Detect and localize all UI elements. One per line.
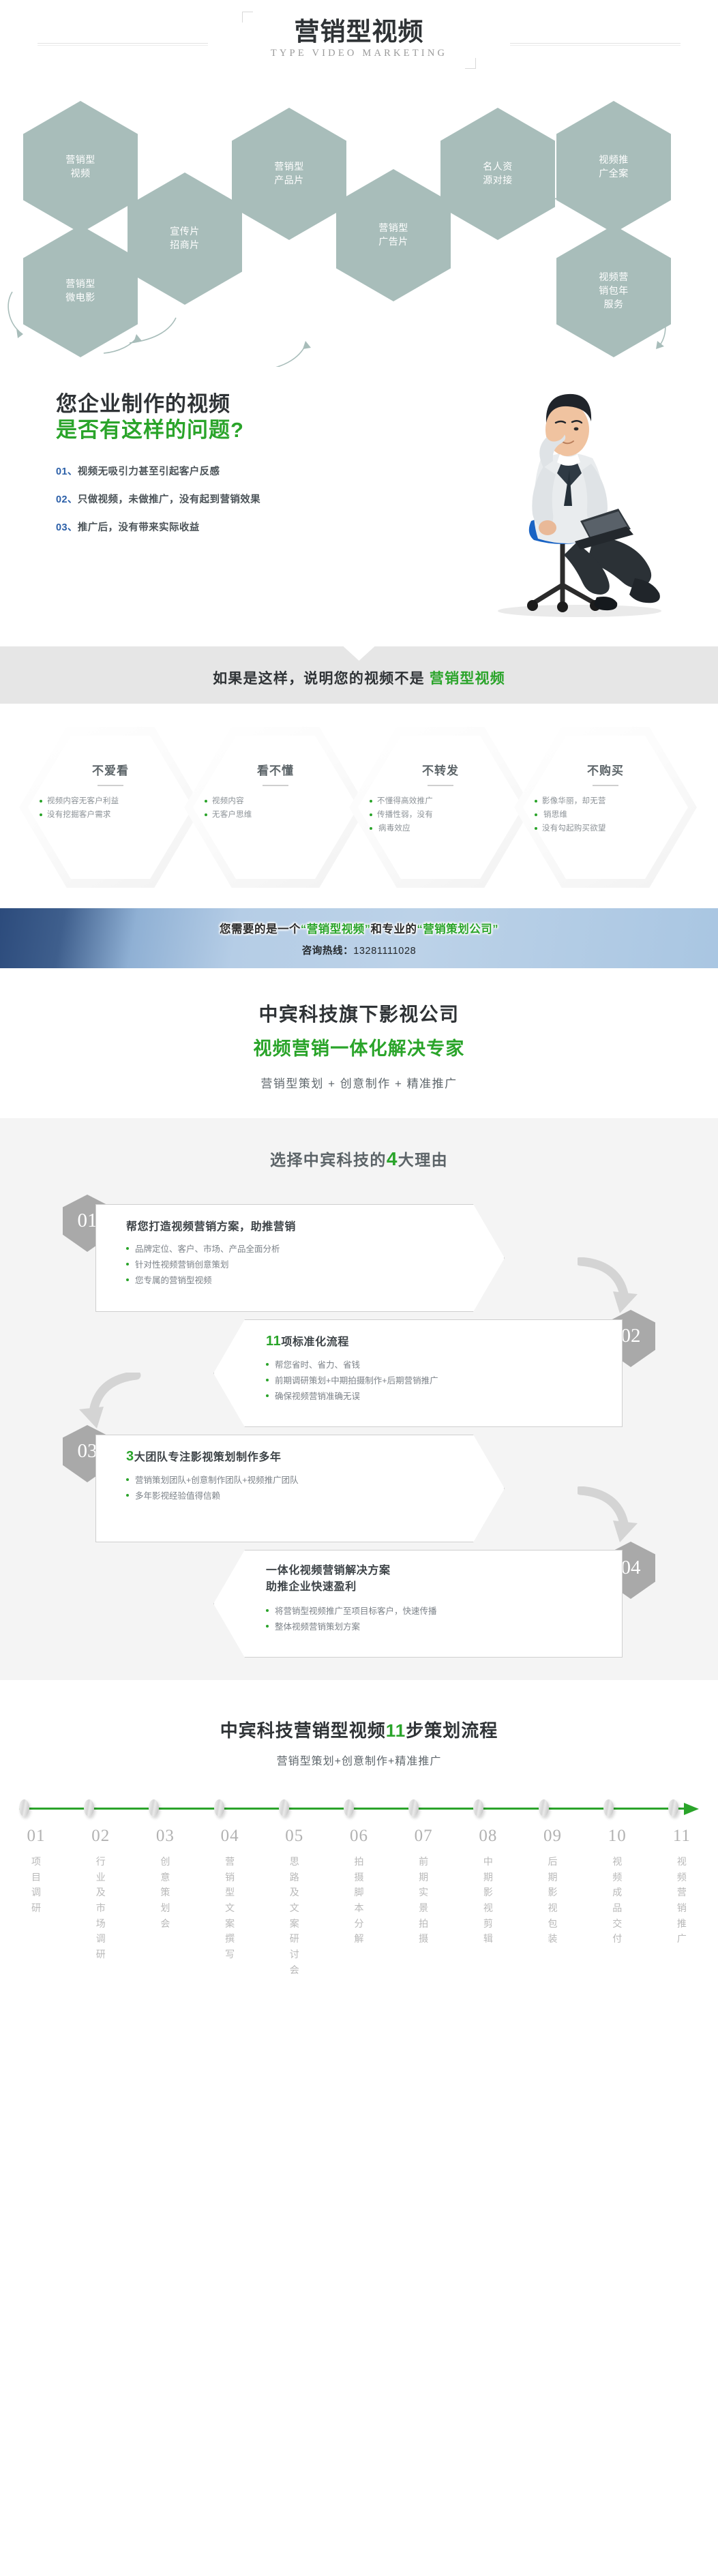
divider [263,785,288,786]
hex-card-bullet: 传播性弱，没有 [370,809,511,822]
hex-card-title: 看不懂 [205,761,346,778]
timeline-dot [539,1799,549,1816]
reason-row-2: 02 11项标准化流程 帮您省时、省力、省钱 前期调研策划+中期拍摄制作+后期营… [0,1307,718,1420]
hex-label: 营销型 微电影 [60,278,101,305]
hex-service-7[interactable]: 视频营 销包年 服务 [556,225,671,357]
company-intro: 中宾科技旗下影视公司 视频营销一体化解决专家 营销型策划 + 创意制作 + 精准… [0,968,718,1118]
hex-service-2[interactable]: 营销型 产品片 [232,108,346,240]
timeline-step[interactable]: 05 思路及文案研讨会 [273,1827,316,1977]
step-number: 03 [144,1827,186,1846]
reason-row-1: 01 帮您打造视频营销方案，助推营销 品牌定位、客户、市场、产品全面分析 针对性… [0,1195,718,1307]
cta-highlight-2: “营销策划公司” [417,923,499,935]
badge-number: 01 [78,1210,98,1232]
reason-card-01[interactable]: 帮您打造视频营销方案，助推营销 品牌定位、客户、市场、产品全面分析 针对性视频营… [95,1204,505,1312]
hex-service-3[interactable]: 营销型 广告片 [336,169,451,301]
badge-number: 03 [78,1440,98,1463]
reason-bullet: 将营销型视频推广至项目标客户，快速传播 [266,1604,592,1619]
hex-service-0[interactable]: 营销型 视频 [23,101,138,233]
hex-label: 名人资 源对接 [477,160,518,188]
timeline-step-count: 11 [386,1720,406,1741]
conclusion-banner: 如果是这样，说明您的视频不是 营销型视频 [0,646,718,704]
problem-section: 您企业制作的视频 是否有这样的问题? 01、视频无吸引力甚至引起客户反感 02、… [0,367,718,646]
hex-card-bullet: 没有勾起购买欲望 [535,822,676,836]
reason-card-02[interactable]: 11项标准化流程 帮您省时、省力、省钱 前期调研策划+中期拍摄制作+后期营销推广… [213,1319,623,1427]
step-label: 视频成品交付 [612,1854,622,1947]
hex-card-bullet: 影像华丽，却无营 [535,795,676,809]
reason-card-title: 一体化视频营销解决方案 助推企业快速盈利 [266,1563,592,1596]
conclusion-highlight: 营销型视频 [430,671,505,687]
timeline-arrowhead-icon [684,1803,699,1815]
reason-bullet: 多年影视经验值得信赖 [126,1488,463,1504]
step-number: 01 [15,1827,57,1846]
timeline-step[interactable]: 03 创意策划会 [144,1827,186,1977]
step-label: 拍摄脚本分解 [354,1854,363,1947]
problem-item-text: 只做视频，未做推广，没有起到营销效果 [78,494,260,505]
page-header: 营销型视频 TYPE VIDEO MARKETING [0,0,718,80]
step-number: 11 [661,1827,703,1846]
header-rule-left [38,43,208,44]
badge-number: 02 [621,1325,641,1347]
hex-card-bullet: 不懂得高效推广 [370,795,511,809]
service-hexagon-grid: 营销型 视频 宣传片 招商片 营销型 产品片 营销型 广告片 名人资 源对接 视… [0,80,718,367]
corner-bracket-icon [242,12,253,23]
hotline-number: 13281111028 [353,946,416,957]
cta-text-a: 您需要的是一个 [220,923,301,935]
header-rule-right [510,43,680,44]
company-tagline: 视频营销一体化解决专家 [0,1034,718,1060]
hex-service-4[interactable]: 名人资 源对接 [440,108,555,240]
step-label: 思路及文案研讨会 [290,1854,299,1977]
step-number: 06 [338,1827,380,1846]
step-label: 行业及市场调研 [96,1854,106,1962]
step-number: 07 [402,1827,445,1846]
timeline-step[interactable]: 09 后期影视包装 [532,1827,574,1977]
hex-card-bullet: 无客户思维 [205,809,346,822]
cta-text-b: 和专业的 [371,923,417,935]
hex-card-title: 不购买 [535,761,676,778]
businessman-photo [460,380,685,619]
step-label: 视频营销推广 [677,1854,687,1947]
timeline-step[interactable]: 07 前期实景拍摄 [402,1827,445,1977]
problem-hex-card-0[interactable]: 不爱看 视频内容无客户利益 没有挖掘客户需求 [19,727,202,888]
hex-card-bullet-cont: 病毒效应 [370,822,511,836]
reason-bullet: 针对性视频营销创意策划 [126,1257,463,1273]
hex-label: 营销型 产品片 [269,160,310,188]
hex-service-6[interactable]: 营销型 微电影 [23,225,138,357]
hex-service-5[interactable]: 视频推 广全案 [556,101,671,233]
reason-bullet: 整体视频营销策划方案 [266,1619,592,1635]
hex-label: 宣传片 招商片 [164,225,205,252]
reason-card-number: 11 [266,1334,281,1349]
page-subtitle: TYPE VIDEO MARKETING [271,48,447,59]
timeline-dot [473,1799,483,1816]
divider [593,785,618,786]
timeline-step[interactable]: 04 营销型文案撰写 [209,1827,251,1977]
timeline-dot [408,1799,419,1816]
hex-label: 视频营 销包年 服务 [593,271,634,312]
cta-highlight-1: “营销型视频” [301,923,371,935]
reason-bullet: 确保视频营销准确无误 [266,1389,592,1405]
hex-card-title: 不爱看 [40,761,181,778]
divider [428,785,453,786]
arrow-path [263,345,305,367]
company-services: 营销型策划 + 创意制作 + 精准推广 [0,1074,718,1091]
timeline-title-a: 中宾科技营销型视频 [220,1720,386,1741]
problem-hex-card-3[interactable]: 不购买 影像华丽，却无营 销思维 没有勾起购买欲望 [514,727,697,888]
problem-hex-card-1[interactable]: 看不懂 视频内容 无客户思维 [184,727,367,888]
step-label: 项目调研 [31,1854,41,1916]
timeline-dot [214,1799,224,1816]
reason-card-title-text: 大团队专注影视策划制作多年 [134,1452,282,1463]
hex-label: 营销型 广告片 [373,222,414,249]
timeline-subtitle: 营销型策划+创意制作+精准推广 [0,1752,718,1768]
landing-page: 营销型视频 TYPE VIDEO MARKETING [0,0,718,2009]
step-number: 09 [532,1827,574,1846]
step-label: 前期实景拍摄 [419,1854,428,1947]
timeline-dot [344,1799,354,1816]
timeline-step[interactable]: 10 视频成品交付 [596,1827,638,1977]
badge-number: 04 [621,1557,641,1579]
reason-row-3: 03 3大团队专注影视策划制作多年 营销策划团队+创意制作团队+视频推广团队 多… [0,1420,718,1532]
problem-hex-card-2[interactable]: 不转发 不懂得高效推广 传播性弱，没有 病毒效应 [349,727,532,888]
step-number: 04 [209,1827,251,1846]
cta-banner: 您需要的是一个“营销型视频”和专业的“营销策划公司” 咨询热线：13281111… [0,908,718,968]
arrow-path [8,292,19,331]
timeline-dot [603,1799,614,1816]
problem-item-number: 01、 [56,466,78,477]
step-label: 创意策划会 [160,1854,170,1931]
company-name: 中宾科技旗下影视公司 [0,1000,718,1027]
timeline-title-b: 步策划流程 [406,1720,498,1741]
timeline-dot [19,1799,29,1816]
timeline-track [19,1799,699,1817]
reason-row-4: 04 一体化视频营销解决方案 助推企业快速盈利 将营销型视频推广至项目标客户，快… [0,1532,718,1645]
hex-card-bullet: 视频内容 [205,795,346,809]
reason-bullet: 前期调研策划+中期拍摄制作+后期营销推广 [266,1373,592,1389]
conclusion-banner-text: 如果是这样，说明您的视频不是 营销型视频 [213,668,505,688]
reasons-title: 选择中宾科技的4大理由 [0,1147,718,1170]
hotline-label: 咨询热线： [302,946,354,957]
step-number: 02 [80,1827,122,1846]
step-number: 05 [273,1827,316,1846]
timeline-dot [279,1799,289,1816]
step-label: 中期影视剪辑 [483,1854,493,1947]
problem-hex-cards: 不爱看 视频内容无客户利益 没有挖掘客户需求 看不懂 视频内容 无客户思维 不转… [0,704,718,908]
corner-bracket-icon [465,58,476,69]
step-label: 后期影视包装 [548,1854,558,1947]
divider [98,785,123,786]
problem-item-number: 03、 [56,522,78,533]
reason-bullet: 帮您省时、省力、省钱 [266,1358,592,1373]
reason-card-title: 帮您打造视频营销方案，助推营销 [126,1217,463,1233]
reason-card-number: 3 [126,1449,134,1464]
hex-card-bullet: 没有挖掘客户需求 [40,809,181,822]
process-timeline-section: 中宾科技营销型视频11步策划流程 营销型策划+创意制作+精准推广 [0,1680,718,2009]
reasons-section: 选择中宾科技的4大理由 01 帮您打造视频营销方案，助推营销 品牌定位、客户、市… [0,1118,718,1680]
cta-hotline[interactable]: 咨询热线：13281111028 [302,943,417,957]
hex-card-title: 不转发 [370,761,511,778]
problem-item-text: 推广后，没有带来实际收益 [78,522,200,533]
reason-card-title: 11项标准化流程 [266,1332,592,1349]
timeline-step[interactable]: 08 中期影视剪辑 [467,1827,509,1977]
page-title: 营销型视频 [271,18,447,46]
reasons-title-a: 选择中宾科技的 [270,1151,387,1169]
problem-item-number: 02、 [56,494,78,505]
reason-bullet: 品牌定位、客户、市场、产品全面分析 [126,1242,463,1257]
hex-card-bullet: 视频内容无客户利益 [40,795,181,809]
reason-card-03[interactable]: 3大团队专注影视策划制作多年 营销策划团队+创意制作团队+视频推广团队 多年影视… [95,1435,505,1542]
timeline-dots [19,1799,678,1816]
step-label: 营销型文案撰写 [225,1854,235,1962]
conclusion-prefix: 如果是这样，说明您的视频不是 [213,671,430,687]
timeline-dot [84,1799,94,1816]
reasons-title-b: 大理由 [398,1151,448,1169]
timeline-step[interactable]: 02 行业及市场调研 [80,1827,122,1977]
cta-banner-line1: 您需要的是一个“营销型视频”和专业的“营销策划公司” [220,920,498,936]
hex-card-bullet-cont: 销思维 [535,809,676,822]
timeline-title: 中宾科技营销型视频11步策划流程 [0,1717,718,1742]
hex-service-1[interactable]: 宣传片 招商片 [128,173,242,305]
hex-label: 视频推 广全案 [593,153,634,181]
reason-bullet: 您专属的营销型视频 [126,1273,463,1289]
header-title-box: 营销型视频 TYPE VIDEO MARKETING [242,12,476,69]
reasons-count: 4 [387,1148,398,1169]
reason-card-04[interactable]: 一体化视频营销解决方案 助推企业快速盈利 将营销型视频推广至项目标客户，快速传播… [213,1550,623,1658]
reason-card-title-text: 项标准化流程 [281,1336,349,1348]
hex-label: 营销型 视频 [60,153,101,181]
reason-bullet: 营销策划团队+创意制作团队+视频推广团队 [126,1473,463,1488]
problem-item-text: 视频无吸引力甚至引起客户反感 [78,466,220,477]
notch-triangle-icon [344,646,375,661]
reason-card-title: 3大团队专注影视策划制作多年 [126,1448,463,1465]
timeline-step[interactable]: 06 拍摄脚本分解 [338,1827,380,1977]
step-number: 08 [467,1827,509,1846]
timeline-step[interactable]: 11 视频营销推广 [661,1827,703,1977]
step-number: 10 [596,1827,638,1846]
timeline-step[interactable]: 01 项目调研 [15,1827,57,1977]
timeline-dot [668,1799,678,1816]
timeline-dot [149,1799,159,1816]
timeline-steps: 01 项目调研 02 行业及市场调研 03 创意策划会 04 营销型文案撰写 0… [15,1827,703,1977]
